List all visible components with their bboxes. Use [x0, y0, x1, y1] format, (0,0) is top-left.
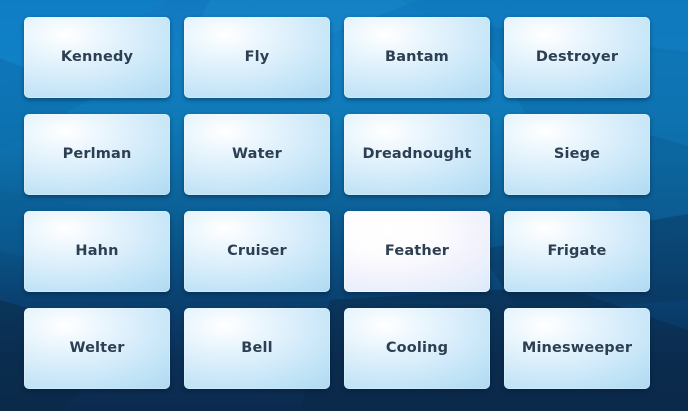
tile-label: Bell — [241, 341, 272, 356]
tile-label: Feather — [385, 244, 449, 259]
tile-fly[interactable]: Fly — [184, 17, 330, 98]
tile-label: Cruiser — [227, 244, 287, 259]
tile-welter[interactable]: Welter — [24, 308, 170, 389]
tile-feather[interactable]: Feather — [344, 211, 490, 292]
tile-water[interactable]: Water — [184, 114, 330, 195]
tile-label: Hahn — [75, 244, 118, 259]
tile-minesweeper[interactable]: Minesweeper — [504, 308, 650, 389]
tile-dreadnought[interactable]: Dreadnought — [344, 114, 490, 195]
tile-label: Perlman — [63, 147, 132, 162]
tile-cruiser[interactable]: Cruiser — [184, 211, 330, 292]
tile-label: Dreadnought — [362, 147, 471, 162]
tile-cooling[interactable]: Cooling — [344, 308, 490, 389]
tile-bantam[interactable]: Bantam — [344, 17, 490, 98]
tile-label: Welter — [69, 341, 124, 356]
tile-perlman[interactable]: Perlman — [24, 114, 170, 195]
tile-grid: Kennedy Fly Bantam Destroyer Perlman Wat… — [24, 17, 652, 389]
tile-siege[interactable]: Siege — [504, 114, 650, 195]
tile-label: Cooling — [386, 341, 448, 356]
tile-label: Fly — [245, 50, 270, 65]
tile-label: Bantam — [385, 50, 449, 65]
tile-label: Water — [232, 147, 282, 162]
tile-frigate[interactable]: Frigate — [504, 211, 650, 292]
tile-kennedy[interactable]: Kennedy — [24, 17, 170, 98]
tile-hahn[interactable]: Hahn — [24, 211, 170, 292]
tile-bell[interactable]: Bell — [184, 308, 330, 389]
tile-label: Destroyer — [536, 50, 618, 65]
tile-label: Kennedy — [61, 50, 133, 65]
tile-grid-screen: Kennedy Fly Bantam Destroyer Perlman Wat… — [0, 0, 688, 411]
tile-label: Minesweeper — [522, 341, 632, 356]
tile-label: Frigate — [547, 244, 606, 259]
tile-label: Siege — [554, 147, 600, 162]
tile-destroyer[interactable]: Destroyer — [504, 17, 650, 98]
